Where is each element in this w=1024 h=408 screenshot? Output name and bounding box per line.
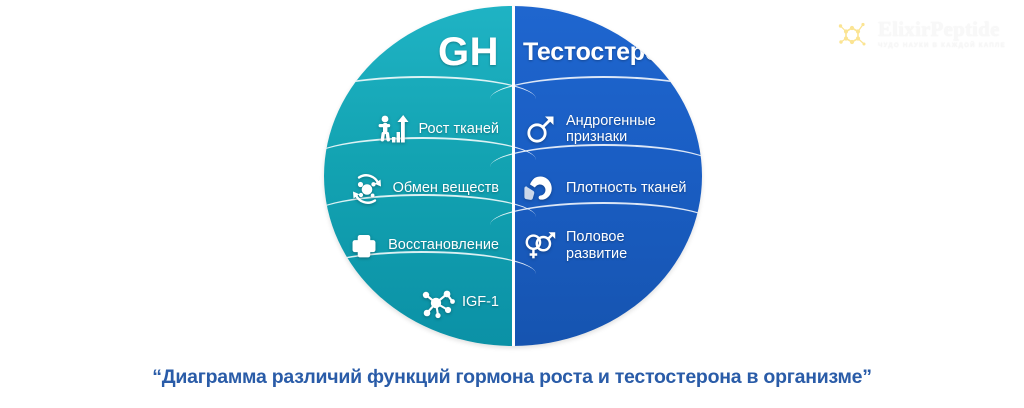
flexed-bicep-icon <box>523 172 557 206</box>
gh-item-label: Обмен веществ <box>393 180 499 196</box>
circle-body: GH <box>324 6 702 346</box>
gh-item-label: IGF-1 <box>462 294 499 310</box>
testosterone-column: Тестостерон Андрогенные признаки <box>513 6 702 346</box>
t-item-tissue-density[interactable]: Плотность тканей <box>513 160 687 217</box>
watermark-tagline: ЧУДО НАУКИ В КАЖДОЙ КАПЛЕ <box>878 43 1006 49</box>
male-mars-symbol-icon <box>523 112 557 146</box>
t-item-sexual-development[interactable]: Половое развитие <box>513 217 627 274</box>
gh-title: GH <box>438 6 513 98</box>
testosterone-title: Тестостерон <box>513 6 675 98</box>
molecule-icon <box>419 286 453 320</box>
center-divider <box>512 6 515 346</box>
male-female-symbol-icon <box>523 229 557 263</box>
watermark-brand: ElixirPeptide <box>878 19 1006 40</box>
gh-item-label: Рост тканей <box>418 121 499 137</box>
t-item-label: Половое развитие <box>566 229 627 261</box>
gh-item-tissue-growth[interactable]: Рост тканей <box>375 98 513 160</box>
t-item-label: Плотность тканей <box>566 180 687 196</box>
medical-cross-icon <box>349 231 379 261</box>
watermark-logo: ElixirPeptide ЧУДО НАУКИ В КАЖДОЙ КАПЛЕ <box>832 10 1010 58</box>
gh-item-label: Восстановление <box>388 237 499 253</box>
diagram-caption: “Диаграмма различий функций гормона рост… <box>0 366 1024 389</box>
watermark-text: ElixirPeptide ЧУДО НАУКИ В КАЖДОЙ КАПЛЕ <box>878 19 1006 49</box>
t-item-label: Андрогенные признаки <box>566 113 656 145</box>
comparison-circle-diagram: GH <box>324 6 702 346</box>
molecule-hexagon-icon <box>832 14 872 54</box>
t-item-androgenic[interactable]: Андрогенные признаки <box>513 98 656 160</box>
person-growth-arrow-icon <box>375 112 409 146</box>
gh-column: GH <box>324 6 513 346</box>
gh-item-igf1[interactable]: IGF-1 <box>419 274 513 331</box>
gh-item-recovery[interactable]: Восстановление <box>349 217 513 274</box>
metabolism-cycle-icon <box>350 172 384 206</box>
gh-item-metabolism[interactable]: Обмен веществ <box>350 160 513 217</box>
